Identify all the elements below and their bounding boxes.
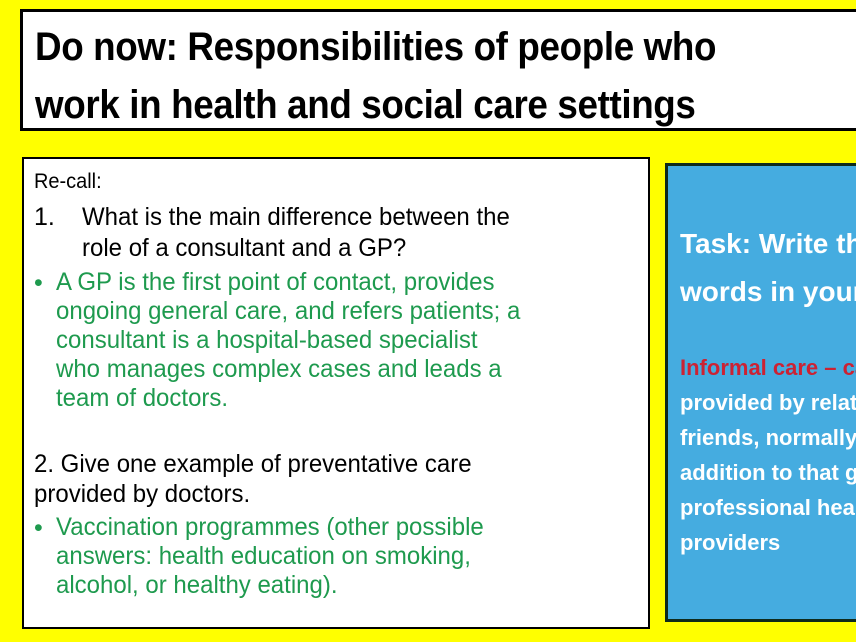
recall-question-1-number: 1. bbox=[34, 202, 82, 233]
recall-answer-2-line-2: answers: health education on smoking, bbox=[56, 542, 615, 571]
recall-question-1-text: What is the main difference between the … bbox=[82, 202, 616, 264]
recall-answer-1-line-2: ongoing general care, and refers patient… bbox=[56, 297, 615, 326]
recall-question-2: 2. Give one example of preventative care… bbox=[34, 449, 638, 509]
task-definition-line-6: providers bbox=[680, 525, 856, 560]
task-definition-line-5: professional health and social care bbox=[680, 490, 856, 525]
recall-answer-1-text: A GP is the first point of contact, prov… bbox=[56, 268, 615, 413]
recall-answer-1-line-4: who manages complex cases and leads a bbox=[56, 355, 615, 384]
slide-title-line-2: work in health and social care settings bbox=[35, 76, 856, 131]
task-definition-line-3: friends, normally unpaid and often in bbox=[680, 420, 856, 455]
recall-question-1-line-1: What is the main difference between the bbox=[82, 202, 616, 233]
task-panel: Task: Write the definitions of these key… bbox=[665, 163, 856, 622]
recall-spacer bbox=[34, 413, 638, 449]
task-heading-line-1: Task: Write the definitions of these key bbox=[680, 220, 856, 268]
task-heading-line-2: words in your books. bbox=[680, 268, 856, 316]
slide-title-box: Do now: Responsibilities of people who w… bbox=[20, 9, 856, 131]
recall-answer-1-line-3: consultant is a hospital-based specialis… bbox=[56, 326, 615, 355]
task-definition-line-2: provided by relatives, neighbours and bbox=[680, 385, 856, 420]
recall-answer-2: • Vaccination programmes (other possible… bbox=[34, 513, 638, 600]
recall-question-1: 1. What is the main difference between t… bbox=[34, 202, 638, 264]
recall-answer-1: • A GP is the first point of contact, pr… bbox=[34, 268, 638, 413]
task-definition-line-1: Informal care – care and support bbox=[680, 350, 856, 385]
recall-question-1-line-2: role of a consultant and a GP? bbox=[82, 233, 616, 264]
recall-question-2-line-1: 2. Give one example of preventative care bbox=[34, 449, 614, 479]
recall-answer-2-line-1: Vaccination programmes (other possible bbox=[56, 513, 615, 542]
bullet-icon: • bbox=[34, 513, 56, 544]
bullet-icon: • bbox=[34, 268, 56, 299]
slide-title-line-1: Do now: Responsibilities of people who bbox=[35, 18, 856, 76]
recall-answer-1-line-5: team of doctors. bbox=[56, 384, 615, 413]
recall-panel: Re-call: 1. What is the main difference … bbox=[22, 157, 650, 629]
recall-heading: Re-call: bbox=[34, 167, 608, 196]
recall-answer-1-line-1: A GP is the first point of contact, prov… bbox=[56, 268, 615, 297]
slide-canvas: Do now: Responsibilities of people who w… bbox=[0, 0, 856, 642]
task-spacer bbox=[680, 316, 856, 350]
recall-question-2-line-2: provided by doctors. bbox=[34, 479, 614, 509]
recall-answer-2-text: Vaccination programmes (other possible a… bbox=[56, 513, 615, 600]
task-definition-line-4: addition to that given by paid bbox=[680, 455, 856, 490]
recall-answer-2-line-3: alcohol, or healthy eating). bbox=[56, 571, 615, 600]
